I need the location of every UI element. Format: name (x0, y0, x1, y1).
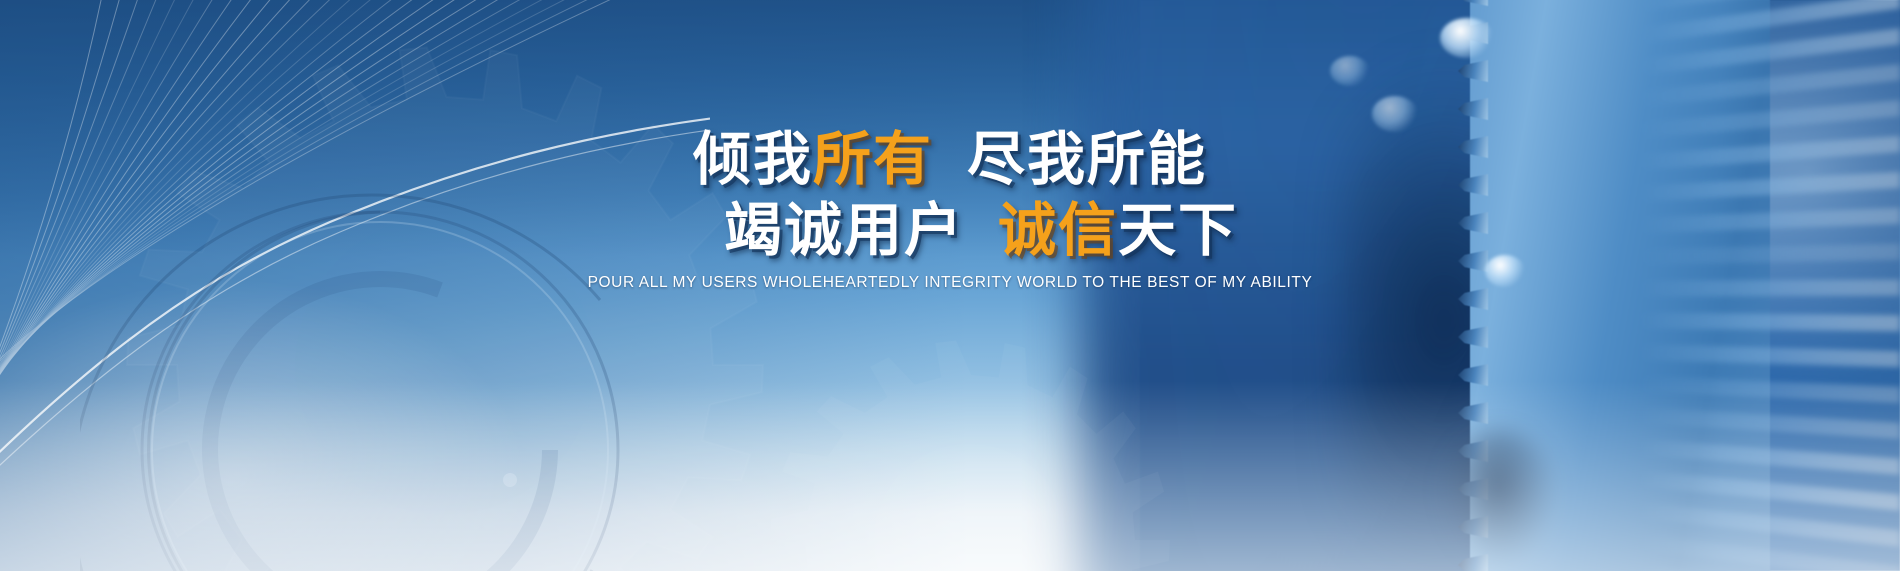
gear-fins-shade (1600, 0, 1900, 571)
gear-photo-right (1140, 0, 1900, 571)
gear-bore-shadow-icon (1438, 430, 1558, 570)
gear-highlight-icon (1440, 18, 1494, 58)
hero-banner: 倾我所有尽我所能 竭诚用户诚信天下 POUR ALL MY USERS WHOL… (0, 0, 1900, 571)
gear-highlight-icon (1330, 56, 1370, 86)
gear-highlight-icon (1372, 96, 1418, 132)
